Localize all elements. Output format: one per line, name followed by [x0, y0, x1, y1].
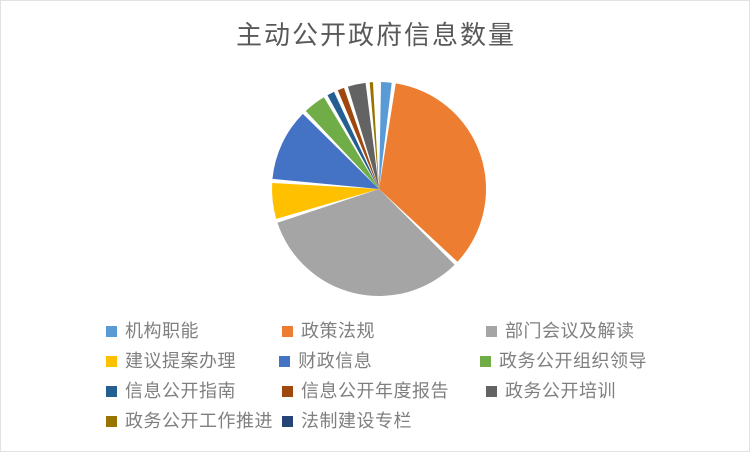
legend-item-label: 机构职能 [125, 322, 199, 340]
legend-item[interactable]: 政务公开工作推进 [106, 412, 278, 430]
legend-item-label: 信息公开指南 [125, 382, 236, 400]
chart-legend: 机构职能政策法规部门会议及解读建议提案办理财政信息政务公开组织领导信息公开指南信… [106, 316, 651, 436]
legend-item-label: 信息公开年度报告 [301, 382, 449, 400]
pie-chart-plot-area [269, 79, 489, 299]
legend-row: 政务公开工作推进法制建设专栏 [106, 406, 651, 436]
legend-color-swatch [279, 356, 290, 367]
legend-item[interactable]: 信息公开年度报告 [282, 382, 482, 400]
legend-item-label: 政务公开工作推进 [125, 412, 273, 430]
legend-item[interactable]: 机构职能 [106, 322, 278, 340]
chart-container: 主动公开政府信息数量 机构职能政策法规部门会议及解读建议提案办理财政信息政务公开… [0, 0, 750, 452]
legend-item-label: 建议提案办理 [125, 352, 236, 370]
legend-color-swatch [480, 356, 491, 367]
legend-color-swatch [282, 416, 293, 427]
legend-item[interactable]: 政务公开组织领导 [480, 352, 647, 370]
legend-item-label: 财政信息 [298, 352, 372, 370]
legend-color-swatch [106, 416, 117, 427]
legend-item[interactable]: 部门会议及解读 [486, 322, 635, 340]
legend-row: 信息公开指南信息公开年度报告政务公开培训 [106, 376, 651, 406]
legend-item-label: 法制建设专栏 [301, 412, 412, 430]
legend-color-swatch [106, 326, 117, 337]
legend-item[interactable]: 建议提案办理 [106, 352, 275, 370]
pie-slice-group [272, 82, 486, 296]
legend-item[interactable]: 财政信息 [279, 352, 476, 370]
legend-color-swatch [486, 326, 497, 337]
chart-title: 主动公开政府信息数量 [1, 15, 750, 52]
legend-item[interactable]: 政策法规 [282, 322, 482, 340]
legend-color-swatch [106, 386, 117, 397]
legend-row: 建议提案办理财政信息政务公开组织领导 [106, 346, 651, 376]
legend-color-swatch [486, 386, 497, 397]
legend-row: 机构职能政策法规部门会议及解读 [106, 316, 651, 346]
legend-item-label: 政务公开培训 [505, 382, 616, 400]
legend-item[interactable]: 信息公开指南 [106, 382, 278, 400]
legend-item-label: 政务公开组织领导 [499, 352, 647, 370]
legend-item-label: 政策法规 [301, 322, 375, 340]
pie-chart-svg [269, 79, 489, 299]
legend-item[interactable]: 政务公开培训 [486, 382, 616, 400]
legend-color-swatch [106, 356, 117, 367]
legend-item[interactable]: 法制建设专栏 [282, 412, 482, 430]
legend-item-label: 部门会议及解读 [505, 322, 635, 340]
legend-color-swatch [282, 326, 293, 337]
legend-color-swatch [282, 386, 293, 397]
